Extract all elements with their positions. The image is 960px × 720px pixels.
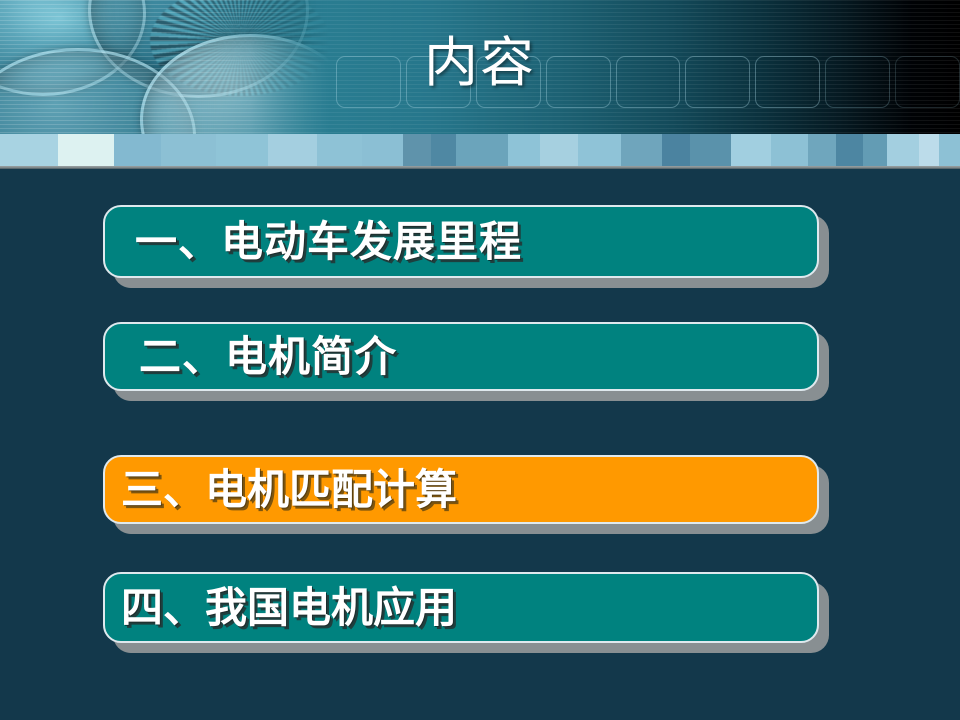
stripe-segment (863, 134, 887, 167)
stripe-segment (362, 134, 403, 167)
stripe-segment (317, 134, 362, 167)
stripe-segment (662, 134, 690, 167)
stripe-segment (578, 134, 621, 167)
stripe-segment (621, 134, 662, 167)
agenda-item-2[interactable]: 二、电机简介 (103, 322, 819, 391)
agenda-item-body[interactable]: 一、电动车发展里程 (103, 205, 819, 278)
stripe-segment (0, 134, 58, 167)
stripe-segment (508, 134, 540, 167)
agenda-item-body[interactable]: 二、电机简介 (103, 322, 819, 391)
stripe-segment (58, 134, 114, 167)
stripe-segment (540, 134, 578, 167)
agenda-list: 一、电动车发展里程 二、电机简介 三、电机匹配计算 四、我国电机应用 (0, 167, 960, 720)
stripe-segment (114, 134, 161, 167)
stripe-segment (216, 134, 269, 167)
slide-title: 内容 (0, 32, 960, 94)
stripe-segment (690, 134, 731, 167)
agenda-item-label: 三、电机匹配计算 (105, 469, 457, 511)
presentation-slide: 内容 一、电动车发展里程 二、电机简介 三、电机匹配计算 四、我 (0, 0, 960, 720)
stripe-segment (161, 134, 215, 167)
stripe-segment (431, 134, 455, 167)
stripe-segment (771, 134, 809, 167)
stripe-segment (268, 134, 317, 167)
stripe-segment (887, 134, 919, 167)
agenda-item-label: 四、我国电机应用 (105, 587, 457, 629)
slide-header-banner: 内容 (0, 0, 960, 134)
agenda-item-body[interactable]: 三、电机匹配计算 (103, 455, 819, 524)
stripe-segment (836, 134, 862, 167)
stripe-segment (808, 134, 836, 167)
stripe-segment (939, 134, 960, 167)
stripe-segment (403, 134, 431, 167)
decorative-stripe-bar (0, 134, 960, 167)
agenda-item-4[interactable]: 四、我国电机应用 (103, 572, 819, 643)
agenda-item-3-active[interactable]: 三、电机匹配计算 (103, 455, 819, 524)
agenda-item-label: 一、电动车发展里程 (105, 221, 522, 263)
stripe-segment (456, 134, 509, 167)
stripe-segment (919, 134, 940, 167)
agenda-item-label: 二、电机简介 (105, 336, 397, 378)
stripe-segment (731, 134, 770, 167)
agenda-item-body[interactable]: 四、我国电机应用 (103, 572, 819, 643)
agenda-item-1[interactable]: 一、电动车发展里程 (103, 205, 819, 278)
